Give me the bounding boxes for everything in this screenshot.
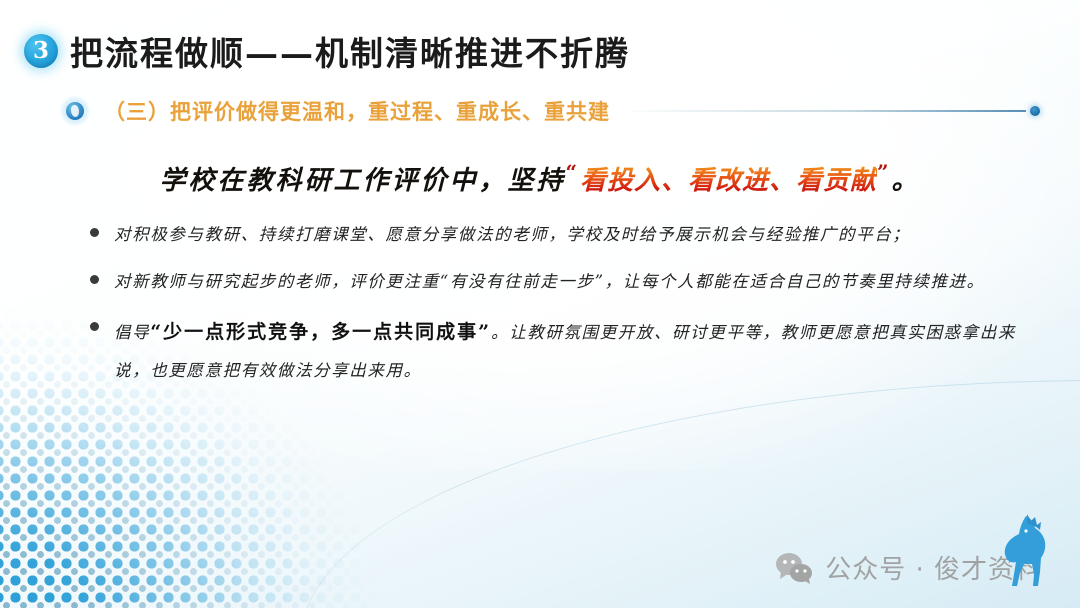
subtitle-rule-line xyxy=(630,110,1026,112)
wechat-icon xyxy=(775,552,815,584)
headline-prefix: 学校在教科研工作评价中，坚持 xyxy=(159,166,565,196)
watermark: 公众号 · 俊才资料 xyxy=(775,549,1042,586)
subtitle-row: （三）把评价做得更温和，重过程、重成长、重共建 xyxy=(60,96,1040,126)
bullet-list: 对积极参与教研、持续打磨课堂、愿意分享做法的老师，学校及时给予展示机会与经验推广… xyxy=(88,218,1018,402)
bullet-marker-icon xyxy=(90,322,99,331)
globe-icon xyxy=(60,96,90,126)
bullet-marker-icon xyxy=(90,275,99,284)
subtitle-rule xyxy=(630,106,1040,116)
headline-suffix: 。 xyxy=(892,166,921,196)
list-item: 倡导“少一点形式竞争，多一点共同成事”。让教研氛围更开放、研讨更平等，教师更愿意… xyxy=(88,312,1018,388)
bullet-text: 对积极参与教研、持续打磨课堂、愿意分享做法的老师，学校及时给予展示机会与经验推广… xyxy=(114,218,1018,251)
subtitle-rule-end-dot xyxy=(1030,106,1040,116)
bullet-lead: 倡导 xyxy=(114,323,150,342)
globe-icon-sphere xyxy=(66,102,84,120)
headline-emphasis: 看投入、看改进、看贡献 xyxy=(580,166,877,196)
headline-close-quote: ” xyxy=(877,160,892,184)
section-number-badge: 3 xyxy=(24,34,58,68)
bullet-marker-icon xyxy=(90,228,99,237)
bullet-strong: “少一点形式竞争，多一点共同成事” xyxy=(150,321,491,343)
subtitle-label: （三）把评价做得更温和，重过程、重成长、重共建 xyxy=(104,96,610,126)
headline-open-quote: “ xyxy=(565,160,580,184)
section-number-label: 3 xyxy=(33,39,49,62)
bullet-text: 对新教师与研究起步的老师，评价更注重“有没有往前走一步”，让每个人都能在适合自己… xyxy=(114,265,1018,298)
bullet-text-composite: 倡导“少一点形式竞争，多一点共同成事”。让教研氛围更开放、研讨更平等，教师更愿意… xyxy=(114,312,1018,388)
headline-statement: 学校在教科研工作评价中，坚持“看投入、看改进、看贡献”。 xyxy=(0,160,1080,197)
horse-logo-icon xyxy=(982,512,1048,590)
page-title: 把流程做顺——机制清晰推进不折腾 xyxy=(70,27,630,75)
list-item: 对新教师与研究起步的老师，评价更注重“有没有往前走一步”，让每个人都能在适合自己… xyxy=(88,265,1018,298)
slide-canvas: 3 把流程做顺——机制清晰推进不折腾 （三）把评价做得更温和，重过程、重成长、重… xyxy=(0,0,1080,608)
list-item: 对积极参与教研、持续打磨课堂、愿意分享做法的老师，学校及时给予展示机会与经验推广… xyxy=(88,218,1018,251)
slide-title-row: 3 把流程做顺——机制清晰推进不折腾 xyxy=(24,27,630,75)
